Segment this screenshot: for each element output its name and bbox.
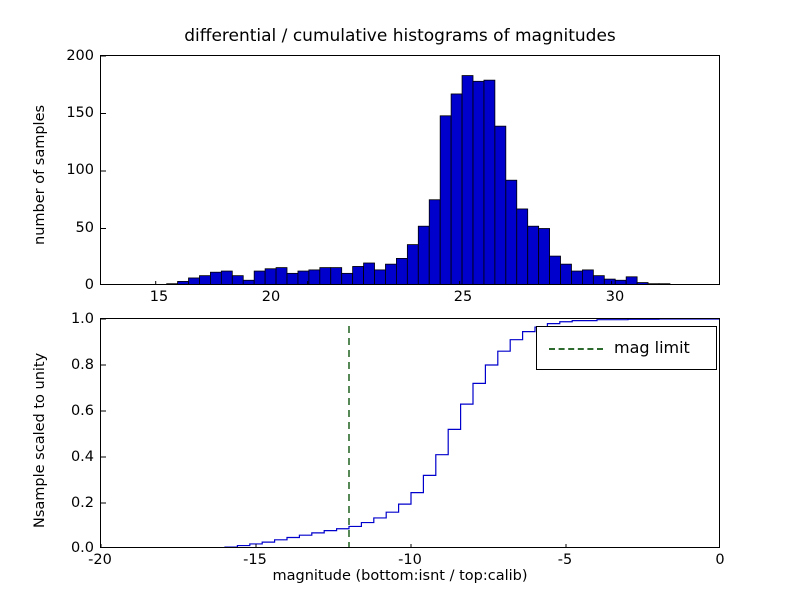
top-xtick-30: 30 [595,289,635,305]
top-histogram-bars [101,56,720,285]
top-ytick-0: 0 [72,277,94,293]
top-xtick-15: 15 [139,289,179,305]
bottom-xtick-m15: -15 [235,552,275,568]
page-title: differential / cumulative histograms of … [0,26,800,46]
top-ytick-200: 200 [50,48,94,64]
bottom-ytick-02: 0.2 [54,495,94,511]
bottom-ylabel: Nsample scaled to unity [32,353,48,528]
bottom-xtick-0: 0 [700,552,740,568]
mag-limit-line-swatch [549,348,603,350]
legend-box[interactable]: mag limit [536,326,717,370]
bottom-ytick-10: 1.0 [54,311,94,327]
top-xtick-20: 20 [251,289,291,305]
bottom-xtick-m5: -5 [545,552,585,568]
top-ytick-50: 50 [60,220,94,236]
legend-item-label: mag limit [614,338,690,357]
bottom-xtick-m10: -10 [390,552,430,568]
figure-xlabel: magnitude (bottom:isnt / top:calib) [0,568,800,584]
top-ylabel: number of samples [32,105,48,245]
top-ytick-100: 100 [50,162,94,178]
bottom-ytick-08: 0.8 [54,357,94,373]
top-xtick-25: 25 [443,289,483,305]
bottom-ytick-04: 0.4 [54,449,94,465]
bottom-xtick-m20: -20 [80,552,120,568]
top-ytick-150: 150 [50,105,94,121]
figure-canvas: differential / cumulative histograms of … [0,0,800,600]
bottom-ytick-06: 0.6 [54,403,94,419]
top-histogram-axes [100,55,720,285]
